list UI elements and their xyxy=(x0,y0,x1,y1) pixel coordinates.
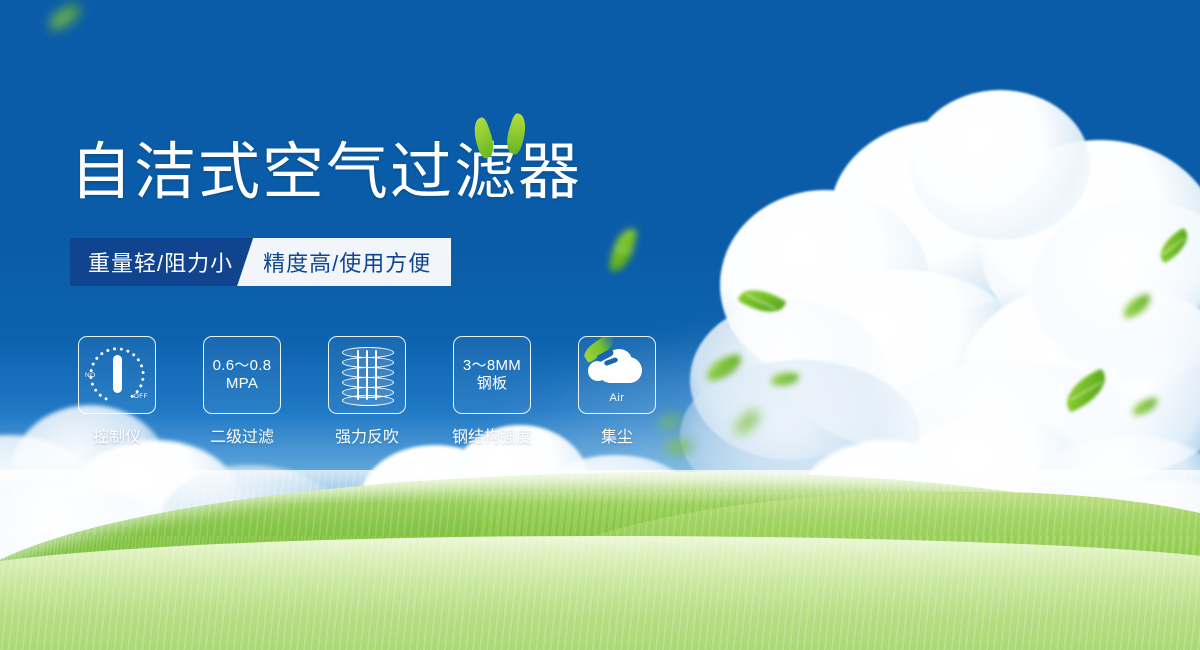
feature-label: 强力反吹 xyxy=(335,423,399,447)
subtitle-bar: 重量轻/阻力小 精度高/使用方便 xyxy=(70,238,451,286)
feature-icon-box xyxy=(328,336,406,414)
feature-item-control[interactable]: NO OFF 控制仪 xyxy=(78,336,156,447)
pressure-value-line2: MPA xyxy=(226,375,258,393)
subtitle-left: 重量轻/阻力小 xyxy=(70,238,253,286)
feature-icon-box: NO OFF xyxy=(78,336,156,414)
feature-icon-box: 3～8MM 钢板 xyxy=(453,336,531,414)
feature-label: 二级过滤 xyxy=(210,423,274,447)
feature-item-dust[interactable]: Air 集尘 xyxy=(578,336,656,447)
feature-label: 控制仪 xyxy=(93,423,141,447)
feature-list: NO OFF 控制仪 0.6～0.8 MPA 二级过滤 xyxy=(78,336,656,447)
gauge-needle xyxy=(113,355,122,393)
feature-label: 集尘 xyxy=(601,423,633,447)
feature-item-backflush[interactable]: 强力反吹 xyxy=(328,336,406,447)
grass-hill-near xyxy=(0,536,1200,650)
sprout-leaf-right xyxy=(502,112,531,155)
gauge-icon: NO OFF xyxy=(86,346,148,404)
sprout-leaf-left xyxy=(469,116,499,159)
feature-icon-box: Air xyxy=(578,336,656,414)
subtitle-right: 精度高/使用方便 xyxy=(237,238,451,286)
feature-item-steel[interactable]: 3～8MM 钢板 钢结构强度 xyxy=(453,336,531,447)
gauge-label-off: OFF xyxy=(134,393,148,400)
grass-texture-near xyxy=(0,536,1200,650)
air-cloud-icon: Air xyxy=(586,349,648,401)
filter-coil-icon xyxy=(342,347,392,403)
feature-item-pressure[interactable]: 0.6～0.8 MPA 二级过滤 xyxy=(203,336,281,447)
air-label: Air xyxy=(586,392,648,404)
grass-field xyxy=(0,480,1200,650)
steel-value-line2: 钢板 xyxy=(477,375,508,393)
product-banner: 自洁式空气过滤器 重量轻/阻力小 精度高/使用方便 xyxy=(0,0,1200,650)
steel-value-line1: 3～8MM xyxy=(463,357,521,375)
pressure-value-line1: 0.6～0.8 xyxy=(213,357,272,375)
feature-label: 钢结构强度 xyxy=(452,423,532,447)
gauge-label-no: NO xyxy=(85,372,96,379)
sprout-leaves-icon xyxy=(472,110,542,158)
feature-icon-box: 0.6～0.8 MPA xyxy=(203,336,281,414)
